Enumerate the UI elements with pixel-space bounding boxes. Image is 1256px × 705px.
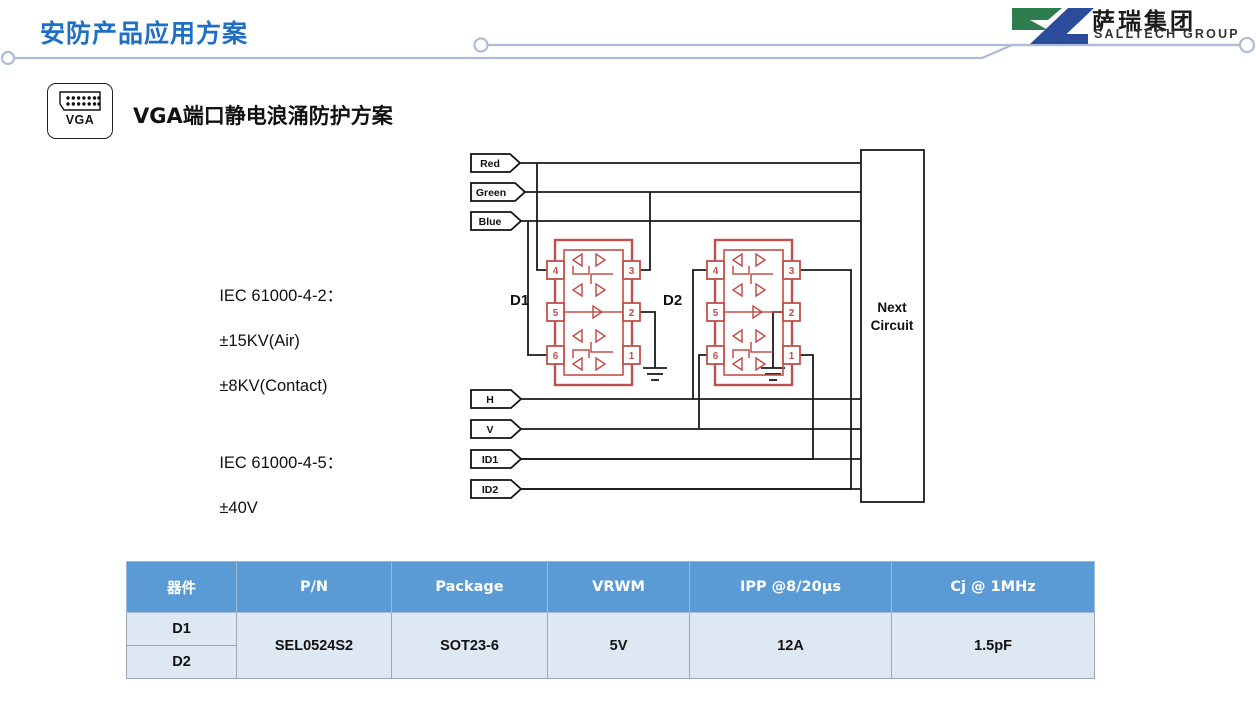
signal-label: V bbox=[486, 424, 493, 436]
pin-label: 2 bbox=[629, 308, 635, 319]
pin-label: 2 bbox=[789, 308, 795, 319]
pin-label: 1 bbox=[789, 351, 795, 362]
pin-label: 1 bbox=[629, 351, 635, 362]
pin-label: 3 bbox=[789, 266, 795, 277]
vga-connector-icon: VGA bbox=[47, 83, 113, 139]
signal-label: ID2 bbox=[482, 484, 499, 496]
device-spec-table: 器件 P/N Package VRWM IPP @8/20μs Cj @ 1MH… bbox=[126, 561, 1095, 679]
signal-tag-v: V bbox=[471, 420, 521, 438]
device-d1: 4 5 6 3 2 1 D1 bbox=[510, 240, 640, 385]
table-row: D1 SEL0524S2 SOT23-6 5V 12A 1.5pF bbox=[127, 613, 1095, 646]
col-header-vrwm: VRWM bbox=[548, 562, 690, 613]
signal-tag-h: H bbox=[471, 390, 521, 408]
signal-label: ID1 bbox=[482, 454, 499, 466]
pin-label: 3 bbox=[629, 266, 635, 277]
cell-pn: SEL0524S2 bbox=[237, 613, 392, 679]
cell-device-d1: D1 bbox=[127, 613, 237, 646]
section-heading: VGA端口静电浪涌防护方案 bbox=[133, 100, 393, 130]
brand-name-en: SALLTECH GROUP bbox=[1094, 27, 1240, 41]
standards-spec-block: IEC 61000-4-2： ±15KV(Air) ±8KV(Contact) … bbox=[201, 262, 343, 542]
spec-line-2: ±15KV(Air) bbox=[219, 332, 300, 350]
pin-label: 4 bbox=[713, 266, 719, 277]
spec-line-3: ±8KV(Contact) bbox=[219, 377, 327, 395]
device-ref-label: D2 bbox=[663, 292, 682, 309]
col-header-package: Package bbox=[392, 562, 548, 613]
cell-package: SOT23-6 bbox=[392, 613, 548, 679]
pin-label: 6 bbox=[713, 351, 719, 362]
next-circuit-label-2: Circuit bbox=[871, 318, 914, 333]
rule-dot-left bbox=[2, 52, 14, 64]
protection-circuit-schematic: Red Green Blue H V ID1 ID2 bbox=[455, 140, 945, 515]
spec-line-4: IEC 61000-4-5： bbox=[219, 454, 343, 472]
device-ref-label: D1 bbox=[510, 292, 529, 309]
pin-label: 5 bbox=[553, 308, 559, 319]
col-header-device: 器件 bbox=[127, 562, 237, 613]
cell-device-d2: D2 bbox=[127, 646, 237, 679]
signal-label: Blue bbox=[479, 216, 502, 228]
next-circuit-label-1: Next bbox=[877, 300, 907, 315]
signal-tag-id1: ID1 bbox=[471, 450, 521, 468]
pin-label: 5 bbox=[713, 308, 719, 319]
slide-page: 安防产品应用方案 萨瑞集团 SALLTECH GROUP bbox=[0, 0, 1256, 705]
spec-line-5: ±40V bbox=[219, 499, 257, 517]
next-circuit-block: Next Circuit bbox=[861, 150, 924, 502]
pin-label: 4 bbox=[553, 266, 559, 277]
signal-label: Red bbox=[480, 158, 500, 170]
signal-tag-blue: Blue bbox=[471, 212, 521, 230]
pin-label: 6 bbox=[553, 351, 559, 362]
signal-tag-id2: ID2 bbox=[471, 480, 521, 498]
signal-label: H bbox=[486, 394, 494, 406]
cell-ipp: 12A bbox=[690, 613, 892, 679]
signal-tag-green: Green bbox=[471, 183, 525, 201]
cell-cj: 1.5pF bbox=[892, 613, 1095, 679]
vga-icon-label: VGA bbox=[48, 113, 112, 127]
dsub-connector-icon bbox=[56, 90, 104, 112]
cell-vrwm: 5V bbox=[548, 613, 690, 679]
col-header-pn: P/N bbox=[237, 562, 392, 613]
spec-line-1: IEC 61000-4-2： bbox=[219, 287, 343, 305]
col-header-ipp: IPP @8/20μs bbox=[690, 562, 892, 613]
device-d2: 4 5 6 3 2 1 D2 bbox=[663, 240, 800, 385]
schematic-wires bbox=[520, 163, 861, 489]
rule-dot-middle bbox=[475, 39, 488, 52]
table-header-row: 器件 P/N Package VRWM IPP @8/20μs Cj @ 1MH… bbox=[127, 562, 1095, 613]
signal-tag-red: Red bbox=[471, 154, 520, 172]
col-header-cj: Cj @ 1MHz bbox=[892, 562, 1095, 613]
signal-label: Green bbox=[476, 187, 506, 199]
